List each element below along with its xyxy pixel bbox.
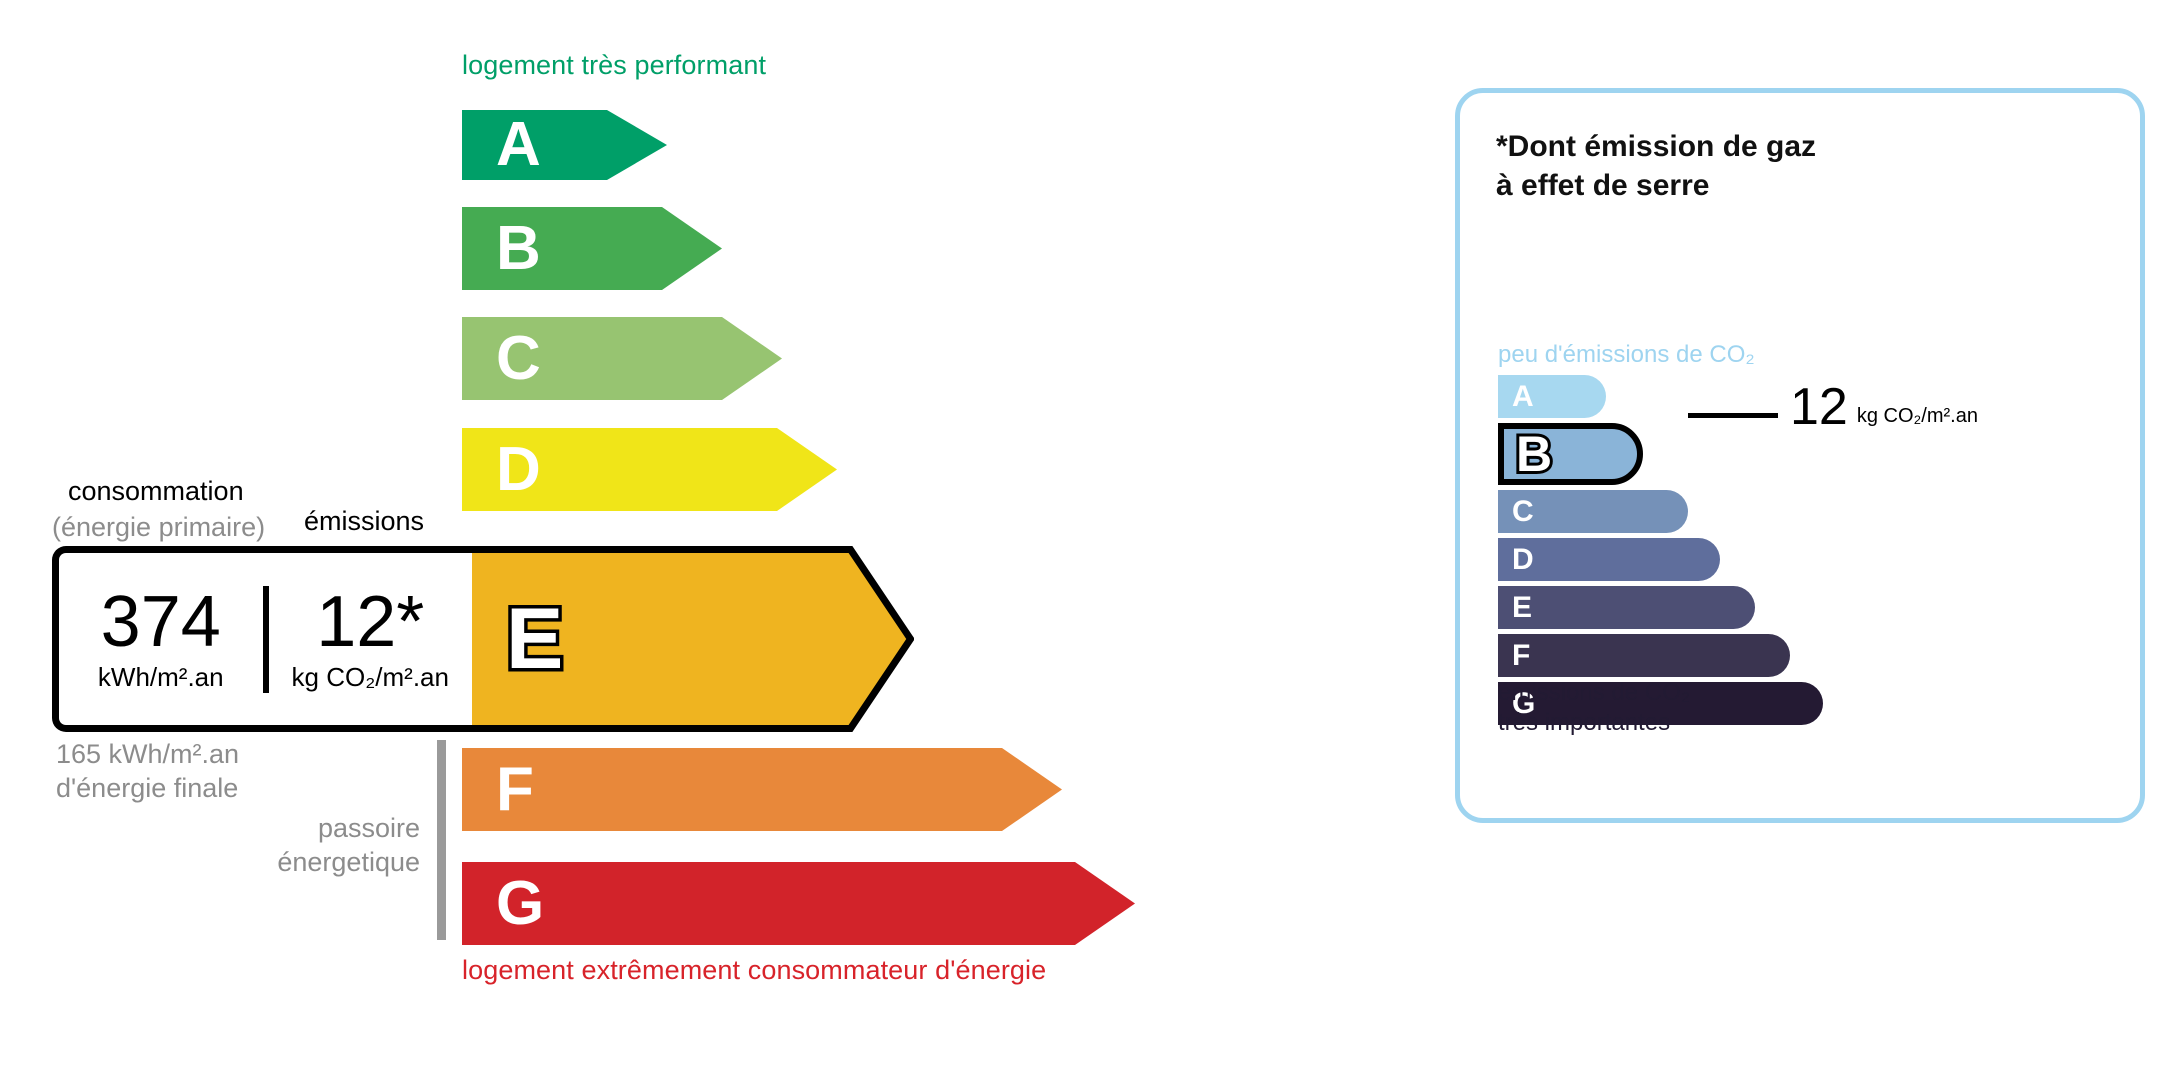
consumption-unit: kWh/m².an [59, 662, 263, 693]
energy-arrow-shape-a [462, 110, 667, 180]
final-energy-label: 165 kWh/m².and'énergie finale [56, 738, 239, 806]
ges-bar-letter-c: C [1512, 497, 1534, 527]
consumption-value: 374 [59, 586, 263, 658]
energy-arrow-letter-c: C [496, 328, 541, 390]
passoire-energetique-label: passoireénergetique [180, 812, 420, 880]
value-box: 374 kWh/m².an 12* kg CO₂/m².an [52, 546, 472, 732]
energy-arrow-letter-a: A [496, 114, 541, 176]
energy-arrow-f: F [462, 748, 1062, 831]
label-consommation: consommation [68, 476, 244, 507]
label-energie-primaire: (énergie primaire) [52, 512, 265, 543]
ges-panel: *Dont émission de gazà effet de serre pe… [1455, 88, 2145, 823]
energy-arrow-letter-e: E [506, 596, 563, 682]
energy-arrow-letter-g: G [496, 873, 544, 935]
ges-bar-letter-d: D [1512, 545, 1534, 575]
energy-arrow-c: C [462, 317, 782, 400]
ges-title: *Dont émission de gazà effet de serre [1496, 127, 1816, 205]
energy-bottom-caption: logement extrêmement consommateur d'éner… [462, 955, 1046, 986]
emission-value: 12* [269, 586, 473, 658]
dpe-energy-label: logement très performant ABCDEFG consomm… [0, 0, 2170, 1079]
ges-bar-letter-a: A [1512, 382, 1534, 412]
ges-top-caption: peu d'émissions de CO₂ [1498, 341, 1755, 369]
ges-leader-line [1688, 413, 1778, 418]
energy-arrow-e: E [462, 546, 914, 732]
ges-bar-letter-e: E [1512, 593, 1532, 623]
energy-arrow-letter-d: D [496, 439, 541, 501]
energy-arrow-letter-b: B [496, 218, 541, 280]
label-emissions: émissions [304, 506, 424, 537]
energy-arrow-b: B [462, 207, 722, 290]
ges-bar-shape-e [1498, 586, 1755, 629]
energy-arrow-shape-f [462, 748, 1062, 831]
ges-unit: kg CO₂/m².an [1857, 405, 1978, 428]
ges-bottom-caption: émissions de CO₂très importantes [1498, 678, 1690, 738]
ges-value: 12 [1790, 381, 1848, 433]
ges-bar-letter-b: B [1516, 429, 1552, 479]
passoire-bracket [437, 740, 446, 940]
ges-bar-shape-f [1498, 634, 1790, 677]
energy-arrow-letter-f: F [496, 759, 534, 821]
energy-scale-panel: logement très performant ABCDEFG consomm… [0, 0, 1400, 1079]
ges-bar-letter-f: F [1512, 641, 1530, 671]
consumption-cell: 374 kWh/m².an [59, 586, 269, 693]
emission-unit: kg CO₂/m².an [269, 662, 473, 693]
energy-arrow-d: D [462, 428, 837, 511]
energy-arrow-shape-g [462, 862, 1135, 945]
ges-value-group: 12 kg CO₂/m².an [1790, 381, 1978, 433]
energy-arrow-a: A [462, 110, 667, 180]
emission-cell: 12* kg CO₂/m².an [269, 586, 473, 693]
energy-arrow-g: G [462, 862, 1135, 945]
